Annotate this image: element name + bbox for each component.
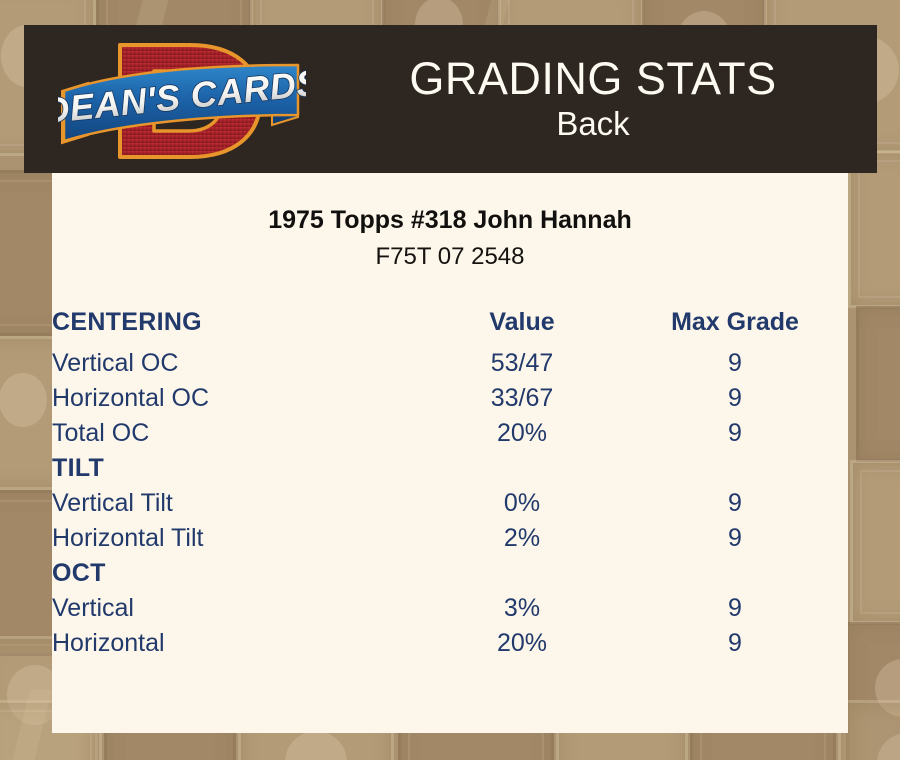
- column-header-value: Value: [422, 308, 622, 349]
- stats-group-row: OCT: [52, 559, 848, 594]
- table-row: Total OC20%9: [52, 419, 848, 454]
- stat-max-grade: 9: [622, 489, 848, 524]
- background-card-ghost: [856, 306, 900, 462]
- page-title: GRADING STATS: [409, 55, 776, 102]
- group-header-centering: CENTERING: [52, 308, 422, 349]
- header-bar: DEAN'S CARDS GRADING STATS Back: [24, 25, 877, 173]
- stats-header-row: CENTERINGValueMax Grade: [52, 308, 848, 349]
- grading-stats-body: CENTERINGValueMax GradeVertical OC53/479…: [52, 308, 848, 664]
- stat-label: Vertical: [52, 594, 422, 629]
- deans-cards-logo[interactable]: DEAN'S CARDS: [58, 31, 306, 171]
- table-row: Horizontal20%9: [52, 629, 848, 664]
- card-serial: F75T 07 2548: [52, 241, 848, 272]
- page-subtitle: Back: [556, 105, 629, 143]
- stat-value: 3%: [422, 594, 622, 629]
- stat-label: Horizontal Tilt: [52, 524, 422, 559]
- stat-label: Vertical OC: [52, 349, 422, 384]
- stat-value: 53/47: [422, 349, 622, 384]
- content-panel: 1975 Topps #318 John Hannah F75T 07 2548…: [52, 173, 848, 733]
- stat-value: 20%: [422, 419, 622, 454]
- column-header-max-grade: Max Grade: [622, 308, 848, 349]
- stat-label: Vertical Tilt: [52, 489, 422, 524]
- card-title: 1975 Topps #318 John Hannah: [52, 205, 848, 236]
- background-card-ghost: [848, 150, 900, 308]
- table-row: Vertical Tilt0%9: [52, 489, 848, 524]
- stat-label: Horizontal OC: [52, 384, 422, 419]
- header-title-block: GRADING STATS Back: [309, 25, 877, 173]
- stat-max-grade: 9: [622, 594, 848, 629]
- stat-value: 33/67: [422, 384, 622, 419]
- stat-value: 20%: [422, 629, 622, 664]
- group-header-tilt: TILT: [52, 454, 848, 489]
- stat-value: 0%: [422, 489, 622, 524]
- stat-value: 2%: [422, 524, 622, 559]
- table-row: Vertical OC53/479: [52, 349, 848, 384]
- table-row: Vertical3%9: [52, 594, 848, 629]
- stat-label: Total OC: [52, 419, 422, 454]
- stat-max-grade: 9: [622, 349, 848, 384]
- background-card-ghost: [850, 460, 900, 624]
- grading-stats-table: CENTERINGValueMax GradeVertical OC53/479…: [52, 308, 848, 664]
- stat-max-grade: 9: [622, 419, 848, 454]
- stats-group-row: TILT: [52, 454, 848, 489]
- stat-max-grade: 9: [622, 384, 848, 419]
- group-header-oct: OCT: [52, 559, 848, 594]
- table-row: Horizontal OC33/679: [52, 384, 848, 419]
- stat-label: Horizontal: [52, 629, 422, 664]
- stat-max-grade: 9: [622, 629, 848, 664]
- stat-max-grade: 9: [622, 524, 848, 559]
- table-row: Horizontal Tilt2%9: [52, 524, 848, 559]
- card-heading-block: 1975 Topps #318 John Hannah F75T 07 2548: [52, 205, 848, 272]
